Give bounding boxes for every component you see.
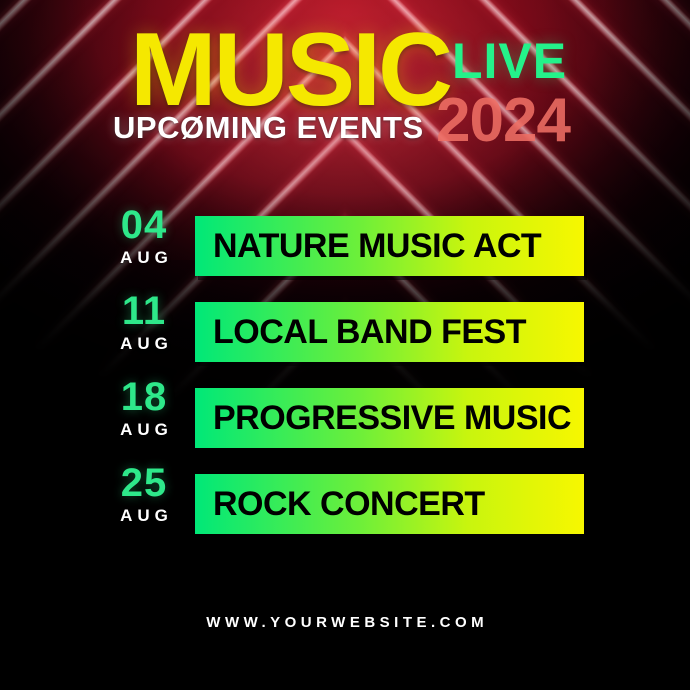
- list-item[interactable]: 25 AUG ROCK CONCERT: [0, 463, 690, 549]
- music-event-poster: MUSIC LIVE 2024 UPCØMING EVENTS 04 AUG N…: [0, 0, 690, 690]
- year-label: 2024: [436, 90, 570, 152]
- event-name: LOCAL BAND FEST: [195, 315, 526, 349]
- list-item[interactable]: 18 AUG PROGRESSIVE MUSIC: [0, 377, 690, 463]
- event-date: 18 AUG: [98, 377, 190, 438]
- list-item[interactable]: 04 AUG NATURE MUSIC ACT: [0, 205, 690, 291]
- event-day: 18: [98, 377, 190, 417]
- event-date: 25 AUG: [98, 463, 190, 524]
- event-month: AUG: [98, 335, 190, 352]
- event-day: 25: [98, 463, 190, 503]
- poster-header: MUSIC LIVE 2024 UPCØMING EVENTS: [0, 0, 690, 160]
- event-day: 11: [98, 291, 190, 331]
- event-month: AUG: [98, 507, 190, 524]
- event-name: PROGRESSIVE MUSIC: [195, 401, 571, 435]
- event-month: AUG: [98, 421, 190, 438]
- event-bar[interactable]: ROCK CONCERT: [195, 474, 584, 534]
- poster-footer: WWW.YOURWEBSITE.COM: [0, 614, 690, 631]
- page-title: MUSIC: [130, 18, 450, 122]
- website-url[interactable]: WWW.YOURWEBSITE.COM: [0, 614, 690, 631]
- poster-content: MUSIC LIVE 2024 UPCØMING EVENTS 04 AUG N…: [0, 0, 690, 690]
- event-name: ROCK CONCERT: [195, 487, 485, 521]
- event-date: 11 AUG: [98, 291, 190, 352]
- event-month: AUG: [98, 249, 190, 266]
- list-item[interactable]: 11 AUG LOCAL BAND FEST: [0, 291, 690, 377]
- event-date: 04 AUG: [98, 205, 190, 266]
- event-day: 04: [98, 205, 190, 245]
- subtitle: UPCØMING EVENTS: [113, 112, 424, 143]
- live-label: LIVE: [452, 36, 567, 86]
- event-bar[interactable]: NATURE MUSIC ACT: [195, 216, 584, 276]
- event-bar[interactable]: LOCAL BAND FEST: [195, 302, 584, 362]
- events-list: 04 AUG NATURE MUSIC ACT 11 AUG LOCAL BAN…: [0, 205, 690, 549]
- event-name: NATURE MUSIC ACT: [195, 229, 541, 263]
- event-bar[interactable]: PROGRESSIVE MUSIC: [195, 388, 584, 448]
